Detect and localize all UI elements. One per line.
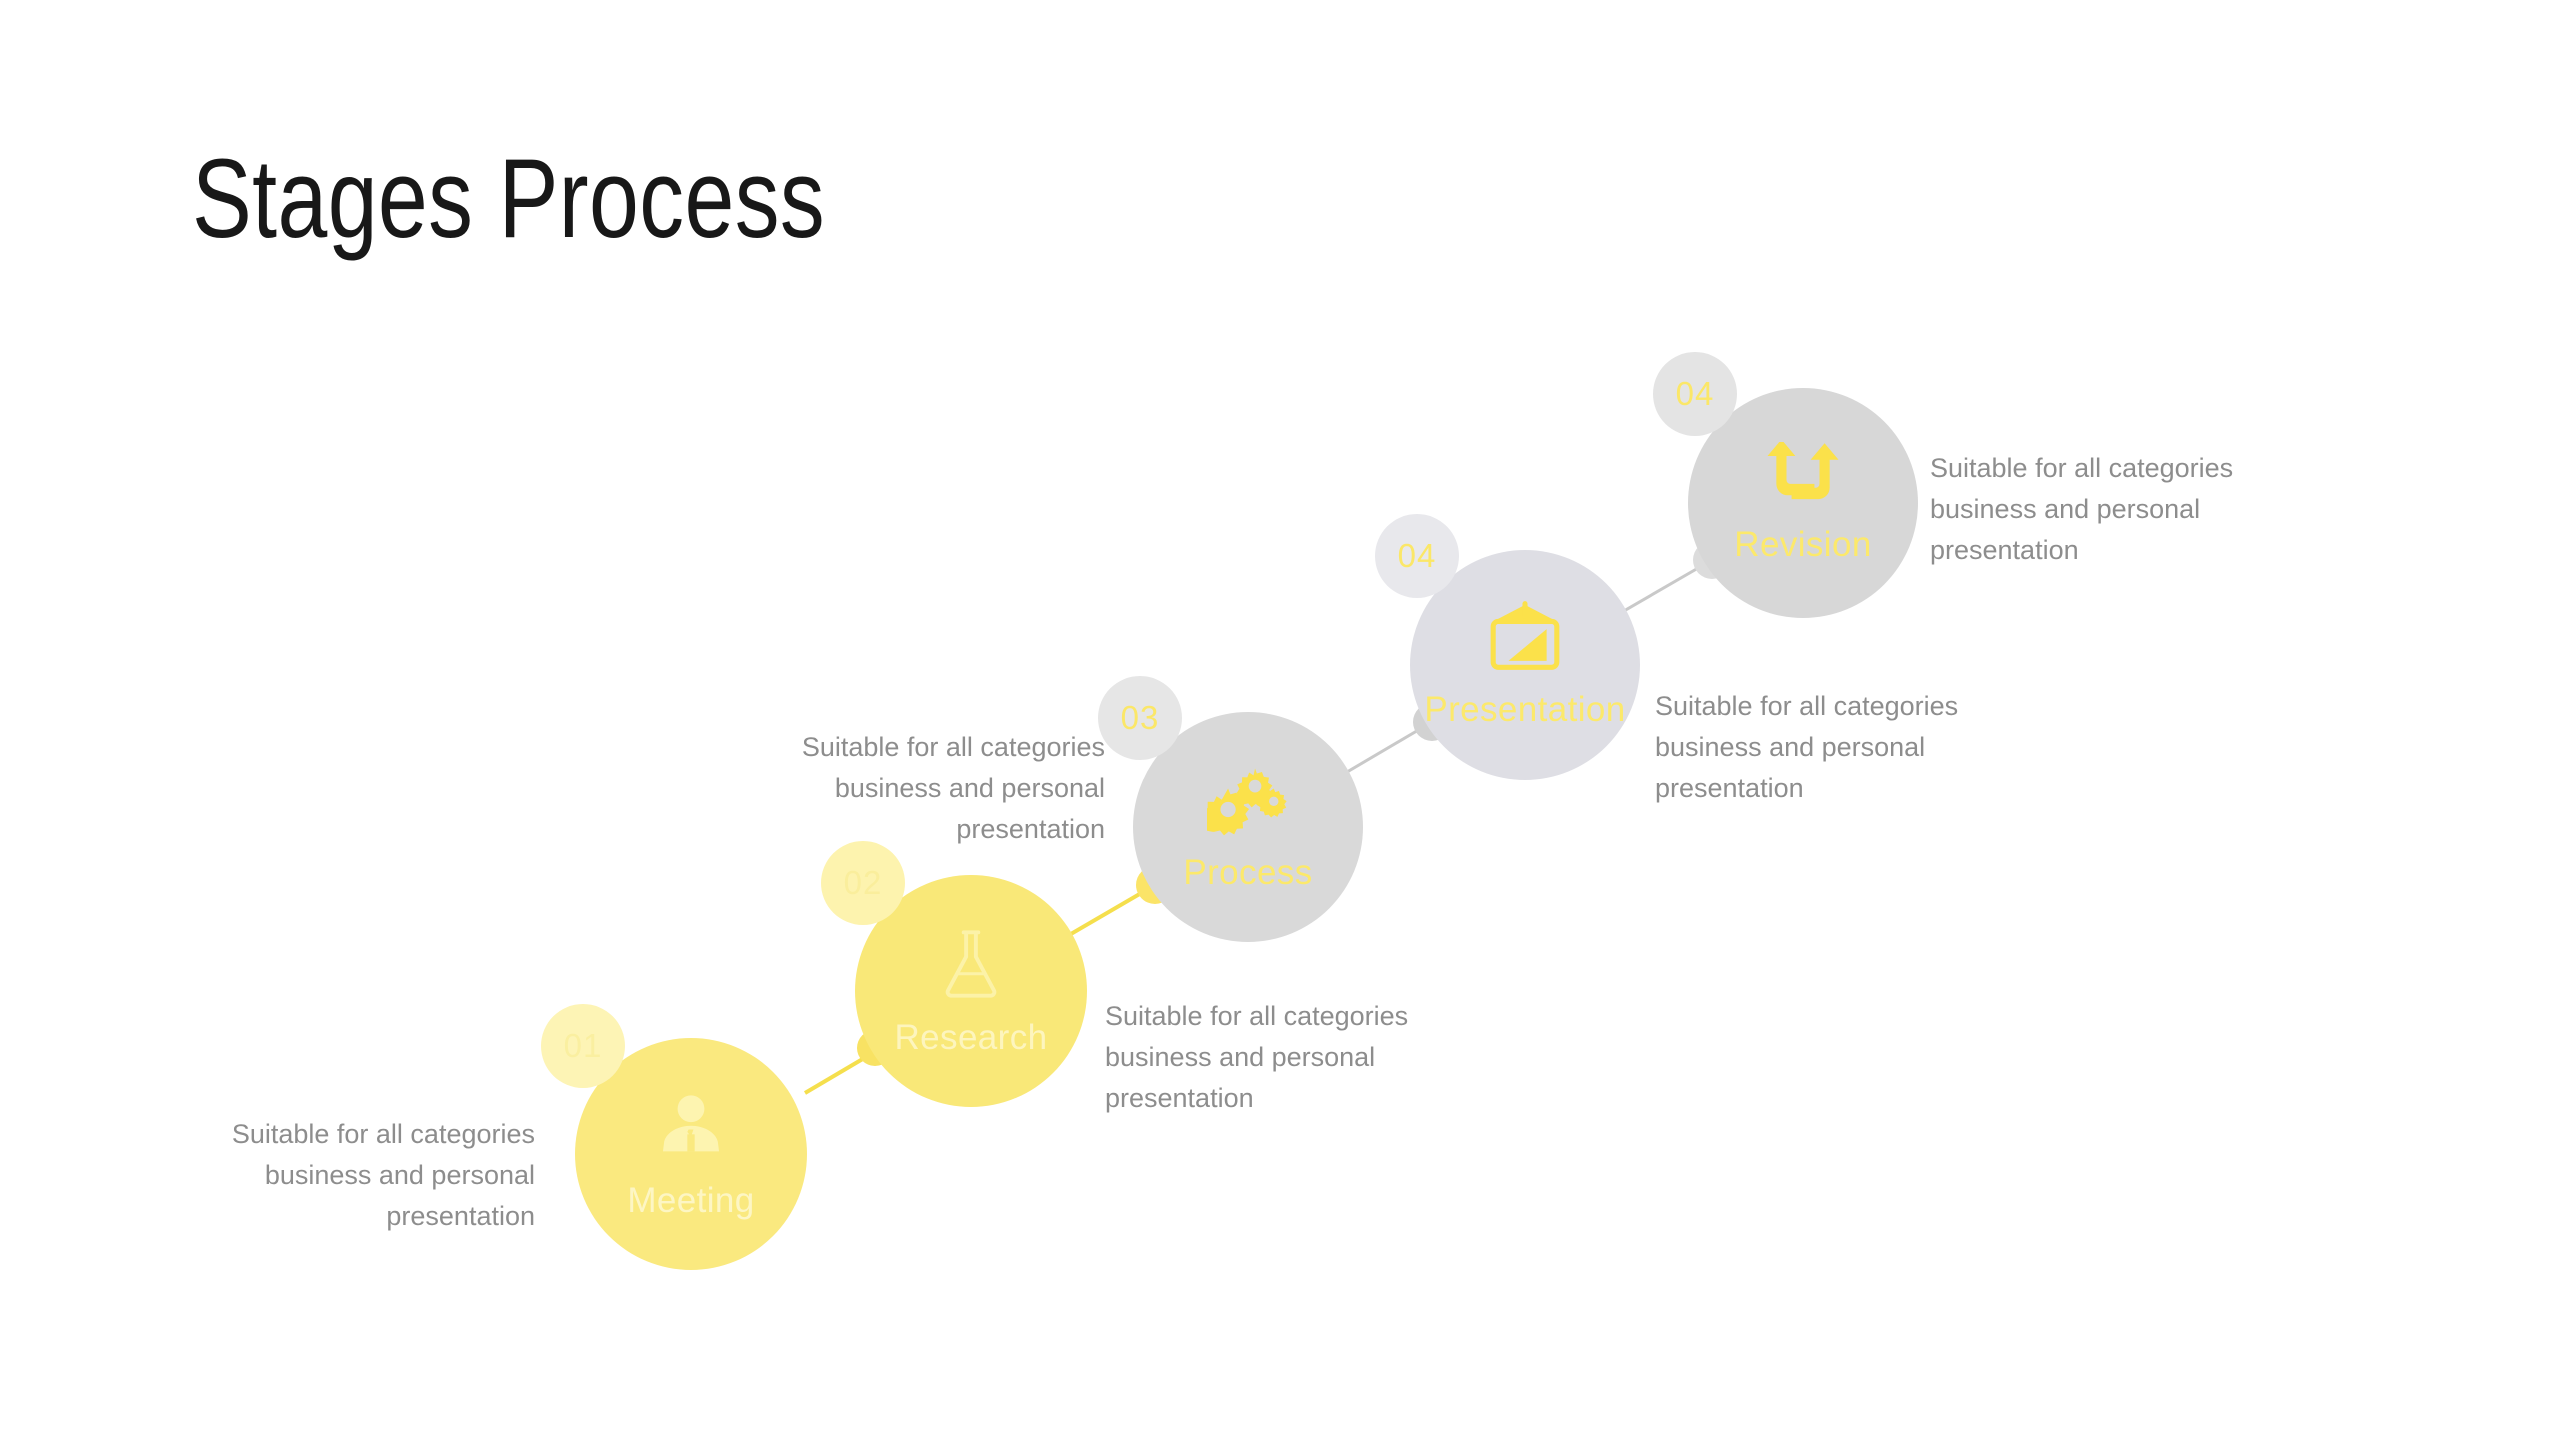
stage-node-meeting[interactable]: Meeting 01 [575, 1038, 807, 1270]
stage-badge-meeting: 01 [541, 1004, 625, 1088]
stage-label-research: Research [895, 1018, 1048, 1058]
page-title: Stages Process [192, 140, 825, 258]
stage-number-presentation: 04 [1398, 537, 1437, 575]
flask-icon [934, 925, 1008, 1008]
stage-node-process[interactable]: Process 03 [1133, 712, 1363, 942]
stage-number-revision: 04 [1676, 375, 1715, 413]
stage-label-revision: Revision [1734, 525, 1871, 565]
user-tie-icon [652, 1088, 730, 1171]
stage-label-presentation: Presentation [1424, 690, 1625, 730]
stage-badge-presentation: 04 [1375, 514, 1459, 598]
stage-number-process: 03 [1121, 699, 1160, 737]
stage-node-research[interactable]: Research 02 [855, 875, 1087, 1107]
gears-icon [1207, 762, 1289, 841]
stage-description-presentation: Suitable for all categories business and… [1655, 686, 1985, 809]
slide-canvas: Stages Process Meeting 01 [0, 0, 2560, 1440]
repeat-arrows-icon [1763, 442, 1843, 513]
stage-badge-revision: 04 [1653, 352, 1737, 436]
stage-badge-research: 02 [821, 841, 905, 925]
presentation-board-icon [1483, 601, 1567, 680]
stage-description-revision: Suitable for all categories business and… [1930, 448, 2260, 571]
stage-node-presentation[interactable]: Presentation 04 [1410, 550, 1640, 780]
stage-label-process: Process [1183, 853, 1312, 893]
stage-description-process: Suitable for all categories business and… [775, 727, 1105, 850]
stage-number-meeting: 01 [564, 1027, 603, 1065]
stage-badge-process: 03 [1098, 676, 1182, 760]
stage-node-revision[interactable]: Revision 04 [1688, 388, 1918, 618]
stage-number-research: 02 [844, 864, 883, 902]
stage-label-meeting: Meeting [627, 1181, 754, 1221]
stage-description-research: Suitable for all categories business and… [1105, 996, 1435, 1119]
stage-description-meeting: Suitable for all categories business and… [205, 1114, 535, 1237]
